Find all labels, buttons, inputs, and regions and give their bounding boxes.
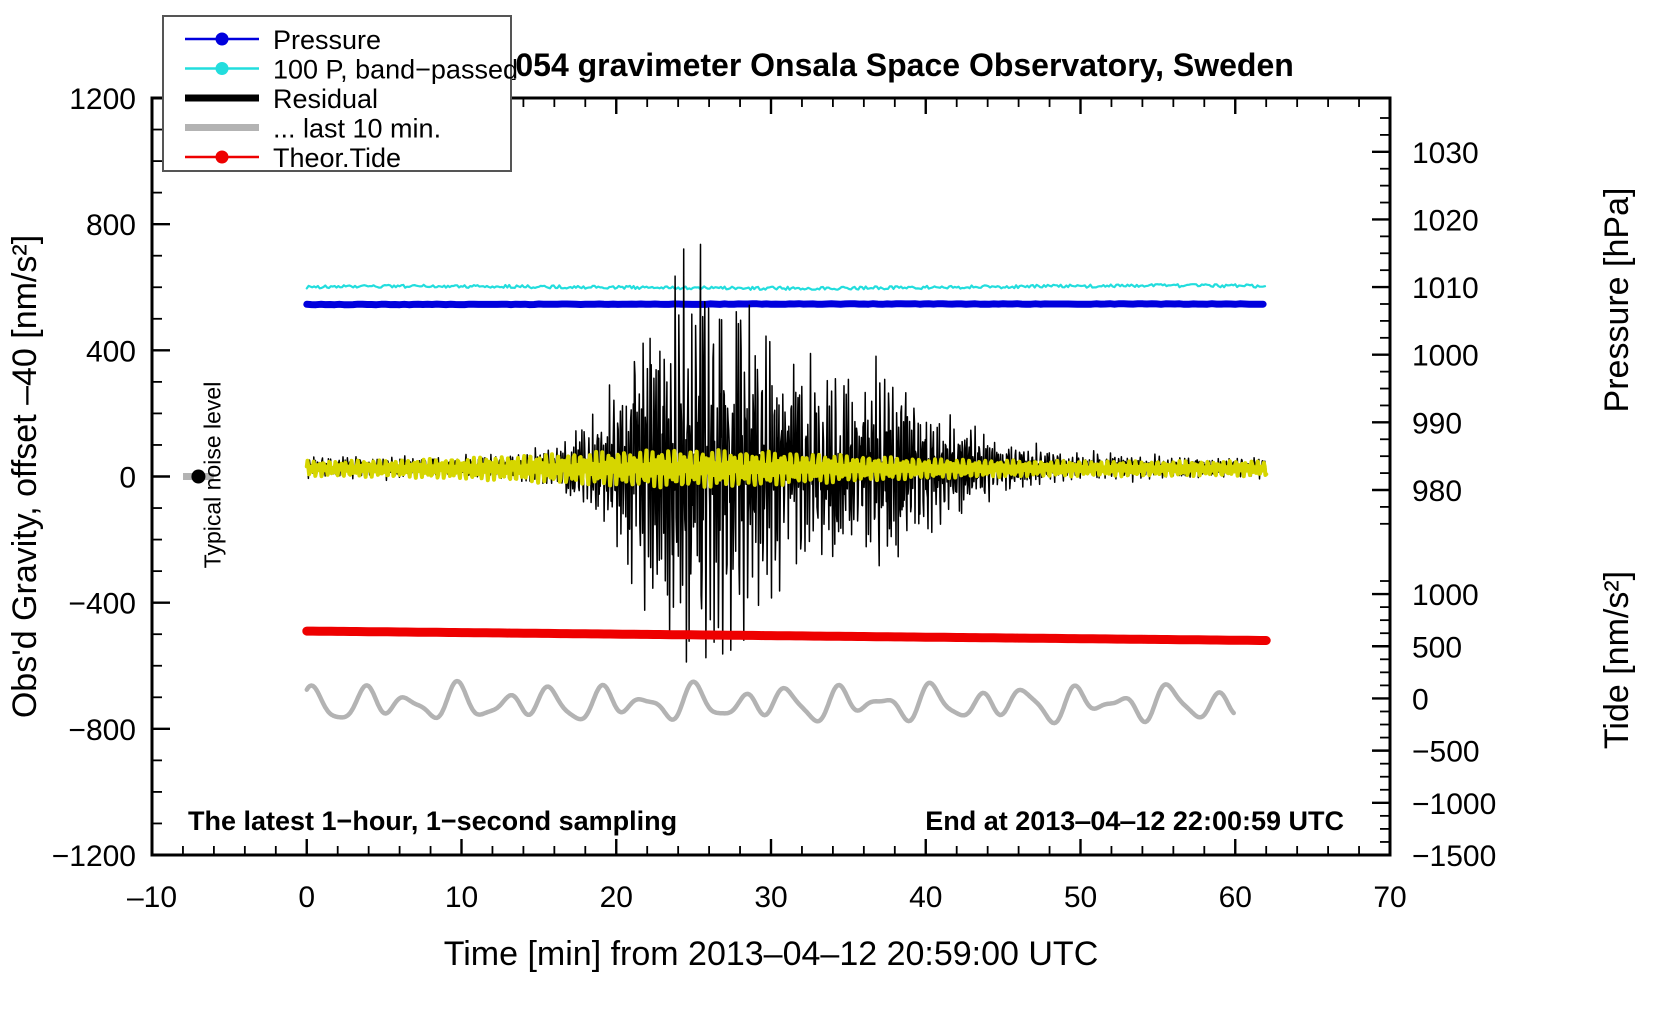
x-tick-label: 60 xyxy=(1219,881,1252,914)
x-tick-label: 70 xyxy=(1373,881,1406,914)
x-tick-label: 40 xyxy=(909,881,942,914)
y-tick-label-pressure: 990 xyxy=(1412,407,1462,440)
series-last-10-min xyxy=(307,681,1234,723)
x-axis-title: Time [min] from 2013‒04‒12 20:59:00 UTC xyxy=(444,935,1099,973)
noise-level-label: Typical noise level xyxy=(199,382,225,569)
series-pressure-bandpassed xyxy=(307,284,1265,290)
x-tick-label: 20 xyxy=(600,881,633,914)
legend-label-1: 100 P, band−passed xyxy=(273,55,518,85)
y-tick-label-left: 1200 xyxy=(69,83,136,116)
x-tick-label: ‒10 xyxy=(127,881,177,914)
sampling-note: The latest 1−hour, 1−second sampling xyxy=(188,806,677,836)
legend-label-0: Pressure xyxy=(273,25,381,55)
chart-canvas: ‒1001020304050607012008004000−400−800−12… xyxy=(0,0,1660,1020)
legend-label-4: Theor.Tide xyxy=(273,143,401,173)
y-tick-label-tide: 1000 xyxy=(1412,579,1479,612)
y-tick-label-left: −400 xyxy=(68,588,136,621)
y-axis-title-left: Obs'd Gravity, offset ‒40 [nm/s²] xyxy=(6,235,44,718)
y-tick-label-tide: −1000 xyxy=(1412,788,1496,821)
gravimeter-timeseries-plot: ‒1001020304050607012008004000−400−800−12… xyxy=(0,0,1660,1020)
plot-title: SCG_054 gravimeter Onsala Space Observat… xyxy=(428,47,1294,83)
y-tick-label-left: −1200 xyxy=(52,840,136,873)
legend-label-3: ... last 10 min. xyxy=(273,114,441,144)
x-tick-label: 30 xyxy=(754,881,787,914)
y-tick-label-tide: −500 xyxy=(1412,736,1480,769)
y-tick-label-left: 400 xyxy=(86,335,136,368)
y-tick-label-tide: 0 xyxy=(1412,683,1429,716)
y-tick-label-tide: 500 xyxy=(1412,631,1462,664)
y-tick-label-left: 800 xyxy=(86,209,136,242)
y-tick-label-pressure: 1010 xyxy=(1412,272,1479,305)
legend-marker-0 xyxy=(216,33,229,46)
y-tick-label-tide: −1500 xyxy=(1412,840,1496,873)
series-theor-tide xyxy=(307,631,1266,640)
y-tick-label-pressure: 1020 xyxy=(1412,204,1479,237)
y-tick-label-pressure: 1030 xyxy=(1412,137,1479,170)
legend-label-2: Residual xyxy=(273,84,378,114)
y-tick-label-pressure: 980 xyxy=(1412,475,1462,508)
legend-marker-1 xyxy=(216,62,229,75)
legend-marker-4 xyxy=(216,151,229,164)
x-tick-label: 50 xyxy=(1064,881,1097,914)
end-time-note: End at 2013‒04‒12 22:00:59 UTC xyxy=(925,806,1344,836)
y-axis-title-pressure: Pressure [hPa] xyxy=(1598,188,1636,413)
y-tick-label-pressure: 1000 xyxy=(1412,340,1479,373)
series-pressure xyxy=(307,304,1263,305)
y-tick-label-left: −800 xyxy=(68,714,136,747)
x-tick-label: 10 xyxy=(445,881,478,914)
y-axis-title-tide: Tide [nm/s²] xyxy=(1598,571,1636,749)
y-tick-label-left: 0 xyxy=(119,462,136,495)
x-tick-label: 0 xyxy=(298,881,315,914)
